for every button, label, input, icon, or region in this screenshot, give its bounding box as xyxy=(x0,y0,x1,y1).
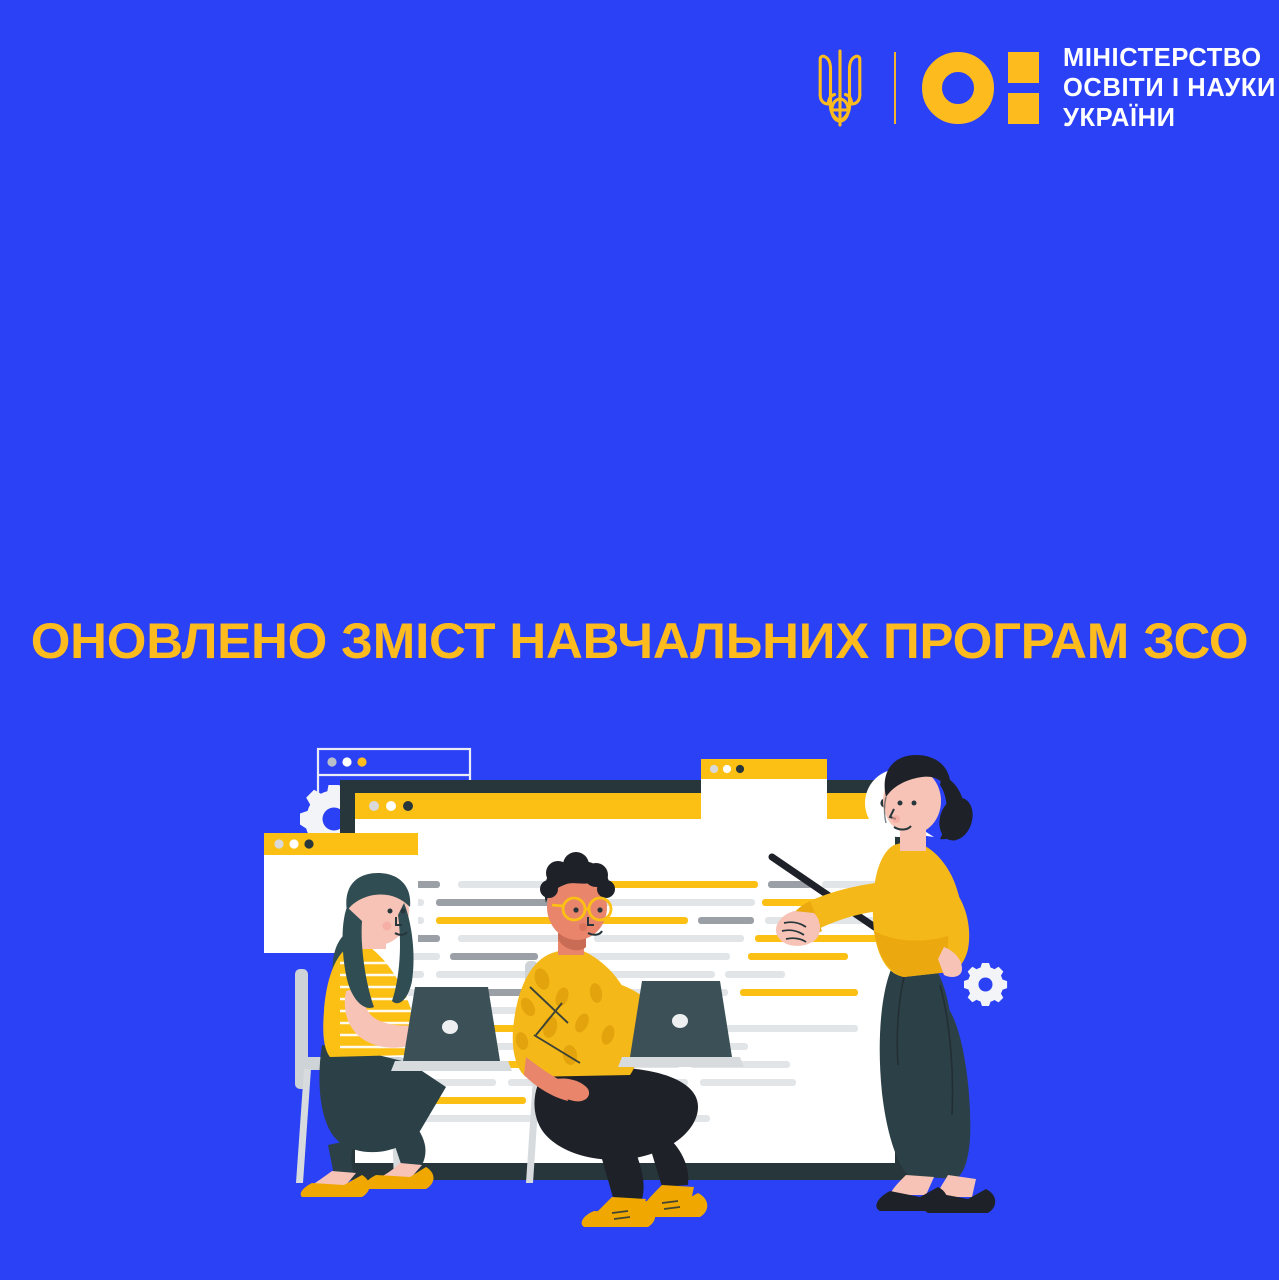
mark-ring xyxy=(922,52,994,124)
logo-divider xyxy=(894,52,896,124)
ukraine-trident-icon xyxy=(812,47,868,129)
ministry-name: МІНІСТЕРСТВО ОСВІТИ І НАУКИ УКРАЇНИ xyxy=(1063,43,1276,133)
poster-canvas: МІНІСТЕРСТВО ОСВІТИ І НАУКИ УКРАЇНИ ОНОВ… xyxy=(0,0,1279,1280)
ministry-name-line2: ОСВІТИ І НАУКИ xyxy=(1063,73,1276,103)
mark-squares xyxy=(1008,52,1039,124)
ministry-logo: МІНІСТЕРСТВО ОСВІТИ І НАУКИ УКРАЇНИ xyxy=(812,38,1242,138)
classroom-illustration-svg xyxy=(250,735,1050,1250)
mark-square-top xyxy=(1008,52,1039,83)
ministry-name-line3: УКРАЇНИ xyxy=(1063,103,1276,133)
ministry-name-line1: МІНІСТЕРСТВО xyxy=(1063,43,1276,73)
mon-o-mark-icon xyxy=(922,49,1039,127)
mark-square-bottom xyxy=(1008,93,1039,124)
gear-icon-small xyxy=(964,963,1007,1006)
classroom-illustration xyxy=(250,735,1050,1250)
poster-headline: ОНОВЛЕНО ЗМІСТ НАВЧАЛЬНИХ ПРОГРАМ ЗСО xyxy=(0,612,1279,670)
browser-window-yellow-top xyxy=(701,759,827,862)
